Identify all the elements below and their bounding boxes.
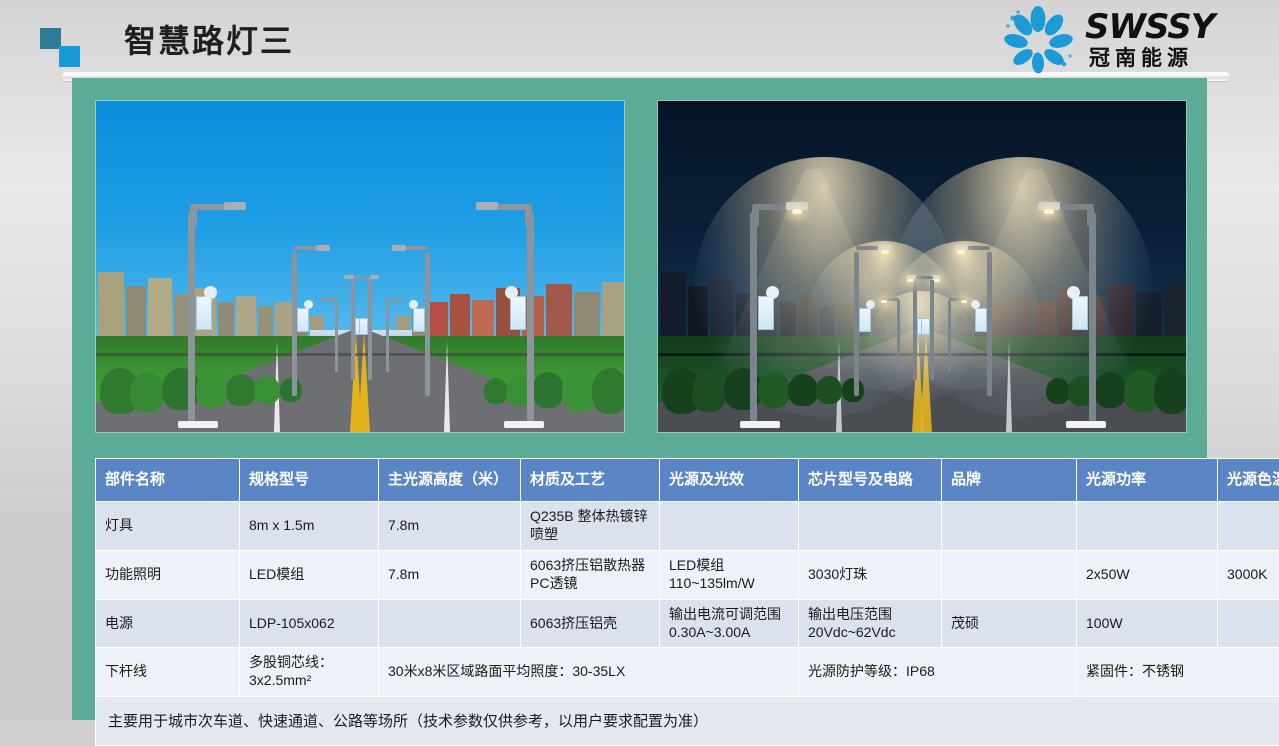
column-header-power: 光源功率 [1077, 459, 1218, 502]
column-header-model: 规格型号 [240, 459, 379, 502]
cell-model: 8m x 1.5m [240, 502, 379, 551]
slide-root: 智慧路灯三 SWSSY 冠南能源 [0, 0, 1279, 720]
photo-row [95, 100, 1187, 433]
water-droplet-flower-icon [1001, 6, 1075, 76]
column-header-brand: 品牌 [942, 459, 1077, 502]
cell-chip-circuit: 输出电压范围20Vdc~62Vdc [799, 599, 942, 648]
cell-light-source: LED模组 110~135lm/W [660, 550, 799, 599]
cell-material: Q235B 整体热镀锌 喷塑 [521, 502, 660, 551]
square-azure-icon [59, 46, 80, 67]
cell-part-name: 下杆线 [96, 648, 240, 697]
cell-model: 多股铜芯线：3x2.5mm² [240, 648, 379, 697]
square-dark-teal-icon [40, 28, 61, 49]
cell-light-height: 7.8m [379, 502, 521, 551]
cell-fastener: 紧固件：不锈钢 [1077, 648, 1279, 697]
cell-material: 6063挤压铝壳 [521, 599, 660, 648]
column-header-chip-circuit: 芯片型号及电路 [799, 459, 942, 502]
cell-light-height: 7.8m [379, 550, 521, 599]
cell-material: 6063挤压铝散热器PC透镜 [521, 550, 660, 599]
table-row: 灯具 8m x 1.5m 7.8m Q235B 整体热镀锌 喷塑 [96, 502, 1279, 551]
header-decor-squares [40, 28, 86, 68]
cell-color-temp [1218, 599, 1279, 648]
table-header-row: 部件名称 规格型号 主光源高度（米） 材质及工艺 光源及光效 芯片型号及电路 品… [96, 459, 1279, 502]
cell-power: 2x50W [1077, 550, 1218, 599]
company-logo: SWSSY 冠南能源 [1001, 4, 1261, 78]
cell-light-source: 输出电流可调范围0.30A~3.00A [660, 599, 799, 648]
column-header-color-temp: 光源色温 [1218, 459, 1279, 502]
nighttime-street-lamp-photo [657, 100, 1187, 433]
logo-wordmark: SWSSY [1085, 8, 1214, 46]
column-header-light-height: 主光源高度（米） [379, 459, 521, 502]
specification-table: 部件名称 规格型号 主光源高度（米） 材质及工艺 光源及光效 芯片型号及电路 品… [95, 458, 1279, 746]
street-lamp-pole [188, 204, 238, 422]
cell-protection: 光源防护等级：IP68 [799, 648, 1077, 697]
table-row: 电源 LDP-105x062 6063挤压铝壳 输出电流可调范围0.30A~3.… [96, 599, 1279, 648]
cell-part-name: 灯具 [96, 502, 240, 551]
cell-color-temp [1218, 502, 1279, 551]
cell-power [1077, 502, 1218, 551]
cell-light-source [660, 502, 799, 551]
cell-part-name: 功能照明 [96, 550, 240, 599]
cell-model: LED模组 [240, 550, 379, 599]
table-row: 功能照明 LED模组 7.8m 6063挤压铝散热器PC透镜 LED模组 110… [96, 550, 1279, 599]
cell-color-temp: 3000K [1218, 550, 1279, 599]
cell-chip-circuit [799, 502, 942, 551]
logo-chinese-name: 冠南能源 [1089, 47, 1193, 71]
column-header-light-source: 光源及光效 [660, 459, 799, 502]
cell-chip-circuit: 3030灯珠 [799, 550, 942, 599]
cell-light-height [379, 599, 521, 648]
table-row: 下杆线 多股铜芯线：3x2.5mm² 30米x8米区域路面平均照度：30-35L… [96, 648, 1279, 697]
table-footer-row: 主要用于城市次车道、快速通道、公路等场所（技术参数仅供参考，以用户要求配置为准） [96, 697, 1279, 746]
page-title: 智慧路灯三 [124, 19, 294, 63]
table-footer-note: 主要用于城市次车道、快速通道、公路等场所（技术参数仅供参考，以用户要求配置为准） [96, 697, 1279, 746]
column-header-part-name: 部件名称 [96, 459, 240, 502]
street-lamp-pole-lit [750, 204, 800, 422]
cell-brand [942, 550, 1077, 599]
cell-brand: 茂硕 [942, 599, 1077, 648]
column-header-material: 材质及工艺 [521, 459, 660, 502]
cell-part-name: 电源 [96, 599, 240, 648]
content-board: 部件名称 规格型号 主光源高度（米） 材质及工艺 光源及光效 芯片型号及电路 品… [72, 78, 1207, 720]
cell-model: LDP-105x062 [240, 599, 379, 648]
cell-illuminance: 30米x8米区域路面平均照度：30-35LX [379, 648, 799, 697]
cell-brand [942, 502, 1077, 551]
cell-power: 100W [1077, 599, 1218, 648]
daytime-street-lamp-photo [95, 100, 625, 433]
